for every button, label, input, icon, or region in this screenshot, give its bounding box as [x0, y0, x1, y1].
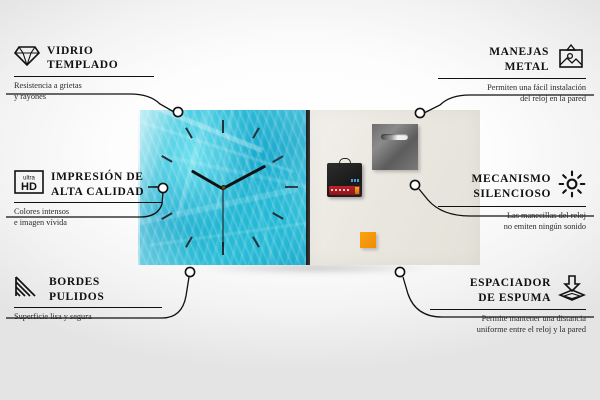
callout-rule [14, 202, 162, 203]
clock-center-hub [221, 185, 226, 190]
callout-rule [438, 78, 586, 79]
callout-desc: Permiten una fácil instalación del reloj… [438, 82, 586, 104]
callout-desc: Resistencia a grietas y rayones [14, 80, 154, 102]
clock-second-hand [223, 188, 224, 246]
callout-title: VIDRIO TEMPLADO [47, 44, 118, 73]
foam-spacer-icon [558, 275, 586, 306]
infographic-stage: VIDRIO TEMPLADO Resistencia a grietas y … [0, 0, 600, 400]
ultra-hd-icon: ultra HD [14, 170, 44, 199]
callout-impresion-alta-calidad[interactable]: ultra HD IMPRESIÓN DE ALTA CALIDAD Color… [14, 170, 162, 228]
diamond-icon [14, 45, 40, 72]
callout-rule [14, 76, 154, 77]
callout-espaciador-de-espuma[interactable]: ESPACIADOR DE ESPUMA Permite mantener un… [430, 275, 586, 335]
metal-hanger-plate [372, 124, 418, 170]
callout-bordes-pulidos[interactable]: BORDES PULIDOS Superficie lisa y segura [14, 275, 162, 322]
callout-manejas-metal[interactable]: MANEJAS METAL Permiten una fácil instala… [438, 44, 586, 104]
hanger-slot [381, 134, 408, 140]
callout-vidrio-templado[interactable]: VIDRIO TEMPLADO Resistencia a grietas y … [14, 44, 154, 102]
callout-desc: Permite mantener una distancia uniforme … [430, 313, 586, 335]
callout-rule [438, 206, 586, 207]
callout-desc: Colores intensos e imagen vívida [14, 206, 162, 228]
battery [329, 186, 360, 195]
callout-desc: Las manecillas del reloj no emiten ningú… [438, 210, 586, 232]
polished-edges-icon [14, 275, 42, 304]
gear-icon [558, 170, 586, 203]
product-image [138, 110, 480, 265]
callout-title: MECANISMO SILENCIOSO [471, 172, 551, 201]
mechanism-loop [339, 158, 351, 166]
clock-mechanism [327, 163, 362, 197]
picture-hanger-icon [556, 44, 586, 75]
callout-rule [14, 307, 162, 308]
mechanism-detail [351, 179, 360, 182]
callout-desc: Superficie lisa y segura [14, 311, 162, 322]
callout-rule [430, 309, 586, 310]
callout-title: IMPRESIÓN DE ALTA CALIDAD [51, 170, 144, 199]
callout-title: BORDES PULIDOS [49, 275, 104, 304]
clock-front-panel [138, 110, 308, 265]
callout-title: MANEJAS METAL [489, 45, 549, 74]
battery-stripe [331, 189, 351, 191]
clock-hour-hand [191, 169, 224, 190]
foam-spacer [360, 232, 376, 248]
callout-title: ESPACIADOR DE ESPUMA [470, 276, 551, 305]
svg-text:HD: HD [21, 181, 37, 193]
callout-mecanismo-silencioso[interactable]: MECANISMO SILENCIOSO Las manecillas del … [438, 170, 586, 232]
